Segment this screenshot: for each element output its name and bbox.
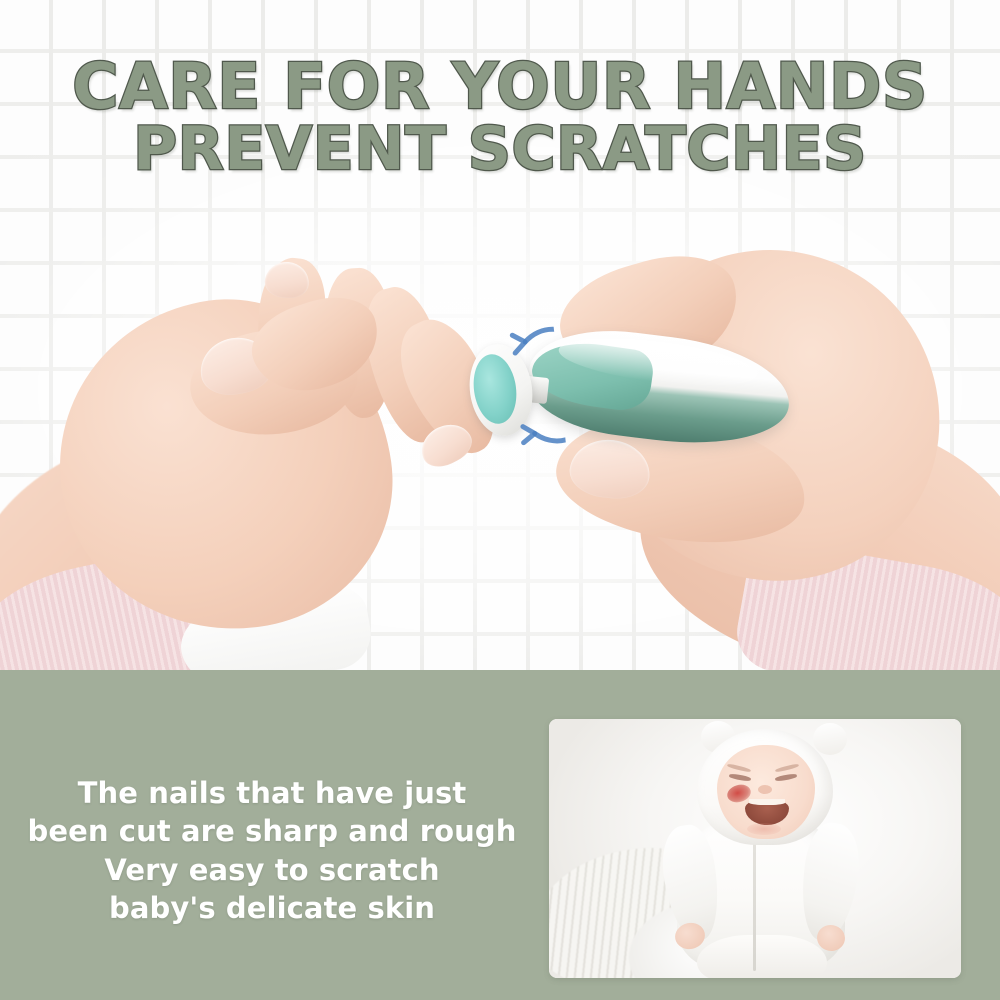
baby-nose	[758, 785, 772, 794]
hero-scene: CARE FOR YOUR HANDS PREVENT SCRATCHES	[0, 0, 1000, 672]
baby-legs	[697, 935, 827, 978]
info-line-3: Very easy to scratch	[8, 851, 536, 889]
baby-upper-gum	[749, 799, 785, 805]
info-line-1: The nails that have just	[8, 774, 536, 812]
nail-trimmer-device	[470, 330, 790, 460]
headline-line-2: PREVENT SCRATCHES	[0, 120, 1000, 179]
info-line-2: been cut are sharp and rough	[8, 812, 536, 850]
info-line-4: baby's delicate skin	[8, 889, 536, 927]
baby-photo-card	[549, 719, 961, 978]
hood-ear-right	[813, 723, 847, 755]
page-title: CARE FOR YOUR HANDS PREVENT SCRATCHES	[0, 56, 1000, 179]
chin-redness	[747, 823, 781, 835]
info-panel-text: The nails that have just been cut are sh…	[8, 774, 536, 927]
product-banner: CARE FOR YOUR HANDS PREVENT SCRATCHES Th…	[0, 0, 1000, 1000]
headline-line-1: CARE FOR YOUR HANDS	[0, 56, 1000, 118]
